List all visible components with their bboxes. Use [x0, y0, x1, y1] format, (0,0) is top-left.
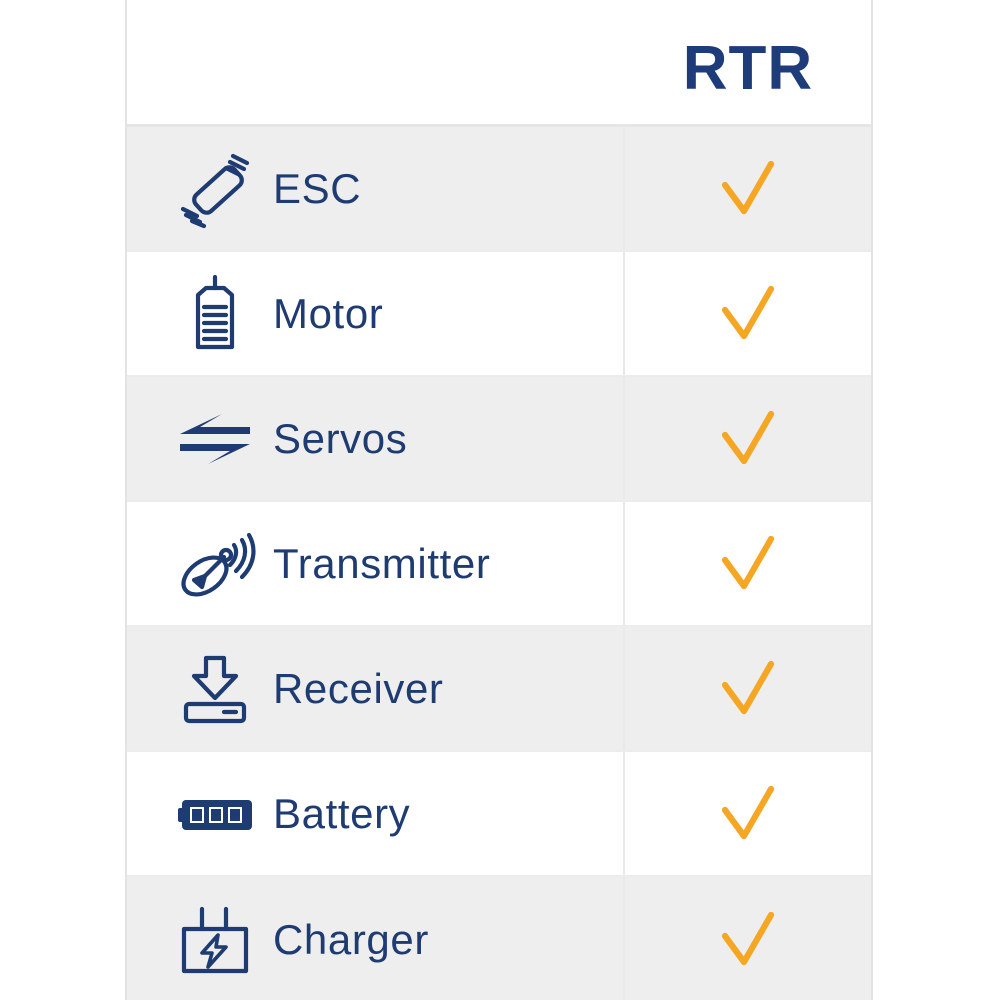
charger-icon	[163, 890, 267, 990]
table-row: Transmitter	[127, 502, 871, 627]
table-header-row: RTR	[127, 0, 871, 127]
rtr-column-title: RTR	[683, 38, 813, 100]
esc-icon	[163, 139, 267, 239]
feature-cell: Receiver	[127, 627, 625, 750]
table-row: Motor	[127, 252, 871, 377]
rtr-value-cell	[625, 377, 871, 500]
feature-cell: Motor	[127, 252, 625, 375]
motor-icon	[163, 264, 267, 364]
checkmark-icon	[717, 781, 779, 847]
checkmark-icon	[717, 406, 779, 472]
checkmark-icon	[717, 281, 779, 347]
feature-label: Receiver	[273, 665, 444, 713]
feature-label: Battery	[273, 790, 410, 838]
feature-label: Motor	[273, 290, 383, 338]
checkmark-icon	[717, 656, 779, 722]
rtr-value-cell	[625, 627, 871, 750]
comparison-table-page: RTR	[0, 0, 1000, 1000]
table-row: Receiver	[127, 627, 871, 752]
rtr-value-cell	[625, 252, 871, 375]
checkmark-icon	[717, 156, 779, 222]
rtr-value-cell	[625, 127, 871, 250]
feature-label: Servos	[273, 415, 407, 463]
battery-icon	[163, 764, 267, 864]
rtr-value-cell	[625, 752, 871, 875]
table-row: ESC	[127, 127, 871, 252]
table-row: Servos	[127, 377, 871, 502]
feature-cell: Charger	[127, 877, 625, 1000]
feature-label: Transmitter	[273, 540, 490, 588]
feature-cell: ESC	[127, 127, 625, 250]
header-feature-column	[127, 0, 625, 124]
table-row: Charger	[127, 877, 871, 1000]
feature-cell: Servos	[127, 377, 625, 500]
feature-cell: Transmitter	[127, 502, 625, 625]
receiver-icon	[163, 639, 267, 739]
servos-icon	[163, 389, 267, 489]
rtr-value-cell	[625, 502, 871, 625]
rtr-value-cell	[625, 877, 871, 1000]
feature-cell: Battery	[127, 752, 625, 875]
feature-label: ESC	[273, 165, 361, 213]
checkmark-icon	[717, 531, 779, 597]
rtr-inclusion-table: RTR	[125, 0, 873, 1000]
feature-label: Charger	[273, 916, 429, 964]
transmitter-icon	[163, 514, 267, 614]
table-row: Battery	[127, 752, 871, 877]
header-rtr-column: RTR	[625, 0, 871, 124]
checkmark-icon	[717, 907, 779, 973]
